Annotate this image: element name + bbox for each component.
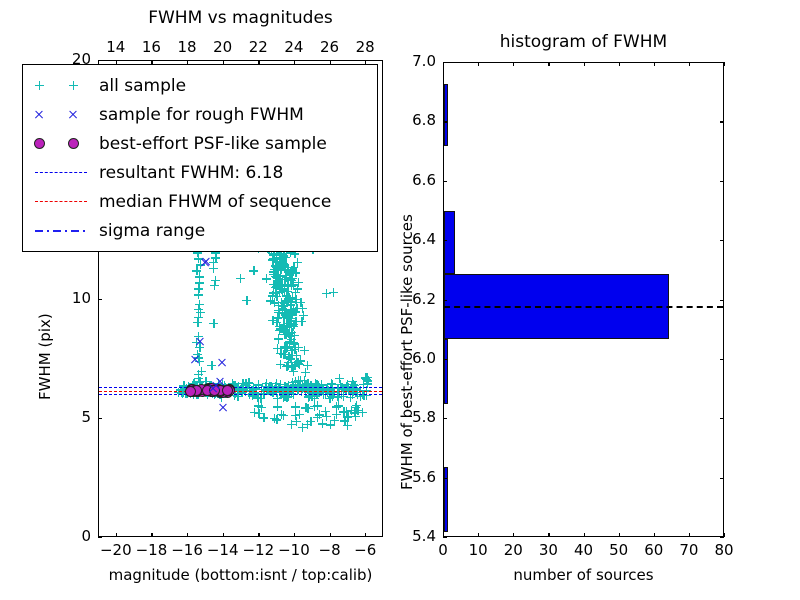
legend-item-rough-sample: sample for rough FWHM: [23, 100, 377, 129]
legend-key-resultant-fwhm: [23, 158, 99, 187]
right-x-tickmark-mirror: [689, 62, 690, 66]
scatter-point-all-sample: [274, 271, 283, 280]
rough-sample-point: [190, 354, 200, 364]
scatter-point-all-sample: [280, 342, 289, 351]
scatter-point-all-sample: [195, 272, 204, 281]
scatter-point-all-sample: [294, 359, 303, 368]
scatter-point-all-sample: [273, 278, 282, 287]
scatter-point-all-sample: [351, 412, 360, 421]
psf-sample-point: [185, 386, 196, 397]
scatter-point-all-sample: [250, 388, 259, 397]
rough-sample-point: [195, 336, 205, 346]
scatter-point-all-sample: [193, 318, 202, 327]
scatter-point-all-sample: [287, 310, 296, 319]
scatter-point-all-sample: [298, 304, 307, 313]
scatter-point-all-sample: [283, 319, 292, 328]
scatter-point-all-sample: [339, 407, 348, 416]
cross-marker-icon: [68, 110, 78, 120]
scatter-point-all-sample: [279, 251, 288, 260]
scatter-point-all-sample: [294, 381, 303, 390]
scatter-point-all-sample: [174, 388, 183, 397]
scatter-point-all-sample: [307, 392, 316, 401]
scatter-point-all-sample: [281, 306, 290, 315]
scatter-point-all-sample: [271, 280, 280, 289]
right-x-tickmark: [689, 533, 690, 537]
scatter-point-all-sample: [274, 278, 283, 287]
scatter-point-all-sample: [282, 343, 291, 352]
cross-marker-icon: [34, 110, 44, 120]
scatter-point-all-sample: [291, 402, 300, 411]
scatter-point-all-sample: [282, 273, 291, 282]
left-y-tickmark: [98, 299, 102, 300]
scatter-point-all-sample: [321, 407, 330, 416]
scatter-point-all-sample: [356, 392, 365, 401]
left-bottom-ticklabel: −20: [100, 541, 132, 559]
scatter-point-all-sample: [281, 266, 290, 275]
left-top-ticklabel: 18: [178, 38, 197, 56]
scatter-point-all-sample: [286, 269, 295, 278]
legend-item-resultant-fwhm: resultant FWHM: 6.18: [23, 158, 377, 187]
scatter-point-all-sample: [284, 392, 293, 401]
scatter-point-all-sample: [210, 281, 219, 290]
left-bottom-tickmark: [116, 533, 117, 537]
right-x-ticklabel: 40: [574, 541, 593, 559]
scatter-point-all-sample: [285, 311, 294, 320]
left-top-ticklabel: 24: [284, 38, 303, 56]
right-x-tickmark-mirror: [619, 62, 620, 66]
scatter-point-all-sample: [276, 265, 285, 274]
scatter-point-all-sample: [277, 298, 286, 307]
scatter-point-all-sample: [303, 420, 312, 429]
scatter-point-all-sample: [279, 324, 288, 333]
scatter-point-all-sample: [271, 265, 280, 274]
legend-item-all-sample: all sample: [23, 71, 377, 100]
scatter-point-all-sample: [292, 351, 301, 360]
scatter-point-all-sample: [269, 267, 278, 276]
scatter-point-all-sample: [304, 404, 313, 413]
scatter-point-all-sample: [276, 257, 285, 266]
right-x-tickmark-mirror: [654, 62, 655, 66]
scatter-point-all-sample: [242, 381, 251, 390]
left-panel-title: FWHM vs magnitudes: [98, 8, 383, 28]
right-x-ticklabel: 70: [679, 541, 698, 559]
scatter-point-all-sample: [306, 381, 315, 390]
scatter-point-all-sample: [281, 310, 290, 319]
right-x-tickmark: [584, 533, 585, 537]
scatter-point-all-sample: [284, 267, 293, 276]
left-y-tickmark: [98, 418, 102, 419]
scatter-point-all-sample: [268, 316, 277, 325]
scatter-point-all-sample: [195, 278, 204, 287]
right-x-ticklabel: 50: [609, 541, 628, 559]
plus-marker-icon: [69, 81, 78, 90]
scatter-point-all-sample: [313, 413, 322, 422]
scatter-point-all-sample: [273, 257, 282, 266]
right-y-tickmark: [443, 181, 447, 182]
scatter-point-all-sample: [248, 391, 257, 400]
scatter-point-all-sample: [329, 288, 338, 297]
scatter-point-all-sample: [286, 274, 295, 283]
scatter-point-all-sample: [196, 308, 205, 317]
scatter-point-all-sample: [310, 394, 319, 403]
scatter-point-all-sample: [335, 374, 344, 383]
right-y-tickmark: [443, 121, 447, 122]
scatter-point-all-sample: [273, 313, 282, 322]
scatter-point-all-sample: [280, 275, 289, 284]
scatter-point-all-sample: [283, 310, 292, 319]
legend-label-psf-sample: best-effort PSF-like sample: [99, 134, 327, 154]
scatter-point-all-sample: [278, 324, 287, 333]
scatter-point-all-sample: [291, 288, 300, 297]
scatter-point-all-sample: [269, 270, 278, 279]
scatter-point-all-sample: [276, 388, 285, 397]
left-bottom-ticklabel: −14: [207, 541, 239, 559]
scatter-point-all-sample: [276, 271, 285, 280]
right-x-tickmark: [724, 533, 725, 537]
scatter-point-all-sample: [271, 261, 280, 270]
scatter-point-all-sample: [273, 278, 282, 287]
scatter-point-all-sample: [288, 378, 297, 387]
legend-label-median-fhwm: median FHWM of sequence: [99, 192, 331, 212]
scatter-point-all-sample: [193, 350, 202, 359]
scatter-point-all-sample: [269, 251, 278, 260]
scatter-point-all-sample: [317, 381, 326, 390]
scatter-point-all-sample: [342, 407, 351, 416]
scatter-point-all-sample: [192, 266, 201, 275]
scatter-point-all-sample: [271, 262, 280, 271]
legend-label-resultant-fwhm: resultant FWHM: 6.18: [99, 163, 283, 183]
scatter-point-all-sample: [262, 274, 271, 283]
scatter-point-all-sample: [254, 401, 263, 410]
right-x-tickmark: [619, 533, 620, 537]
scatter-point-all-sample: [268, 388, 277, 397]
scatter-point-all-sample: [282, 297, 291, 306]
scatter-point-all-sample: [348, 377, 357, 386]
scatter-point-all-sample: [305, 391, 314, 400]
scatter-point-all-sample: [283, 281, 292, 290]
scatter-point-all-sample: [286, 310, 295, 319]
left-bottom-ticklabel: −8: [319, 541, 341, 559]
right-x-tickmark: [654, 533, 655, 537]
scatter-point-all-sample: [287, 363, 296, 372]
scatter-point-all-sample: [242, 296, 251, 305]
left-top-ticklabel: 28: [356, 38, 375, 56]
scatter-point-all-sample: [282, 344, 291, 353]
legend-item-psf-sample: best-effort PSF-like sample: [23, 129, 377, 158]
scatter-point-all-sample: [285, 338, 294, 347]
scatter-point-all-sample: [292, 304, 301, 313]
scatter-point-all-sample: [284, 296, 293, 305]
right-y-tickmark-mirror: [720, 418, 724, 419]
rough-sample-point: [218, 403, 228, 413]
right-y-tickmark-mirror: [720, 240, 724, 241]
right-y-tickmark-mirror: [720, 121, 724, 122]
scatter-point-all-sample: [275, 308, 284, 317]
scatter-point-all-sample: [353, 406, 362, 415]
scatter-point-all-sample: [332, 410, 341, 419]
scatter-point-all-sample: [274, 301, 283, 310]
left-ylabel: FWHM (pix): [36, 313, 54, 400]
scatter-point-all-sample: [284, 352, 293, 361]
scatter-point-all-sample: [195, 343, 204, 352]
scatter-point-all-sample: [339, 392, 348, 401]
scatter-point-all-sample: [278, 258, 287, 267]
scatter-point-all-sample: [211, 253, 220, 262]
scatter-point-all-sample: [233, 392, 242, 401]
scatter-point-all-sample: [283, 328, 292, 337]
scatter-point-all-sample: [281, 350, 290, 359]
legend-label-rough-sample: sample for rough FWHM: [99, 105, 304, 125]
legend-label-sigma-range: sigma range: [99, 221, 205, 241]
scatter-point-all-sample: [282, 312, 291, 321]
legend-item-median-fhwm: median FHWM of sequence: [23, 187, 377, 216]
left-top-ticklabel: 22: [249, 38, 268, 56]
scatter-point-all-sample: [286, 314, 295, 323]
scatter-point-all-sample: [279, 350, 288, 359]
scatter-point-all-sample: [291, 381, 300, 390]
right-x-ticklabel: 20: [504, 541, 523, 559]
scatter-point-all-sample: [273, 271, 282, 280]
scatter-point-all-sample: [276, 253, 285, 262]
histogram-bar: [444, 467, 448, 532]
legend-box: all sample sample for rough FWHM best-ef…: [22, 64, 378, 252]
scatter-point-all-sample: [330, 416, 339, 425]
scatter-point-all-sample: [291, 317, 300, 326]
right-x-tickmark: [513, 533, 514, 537]
scatter-point-all-sample: [276, 255, 285, 264]
histogram-bar: [444, 211, 455, 273]
scatter-point-all-sample: [288, 266, 297, 275]
scatter-point-all-sample: [351, 403, 360, 412]
scatter-point-all-sample: [284, 329, 293, 338]
scatter-point-all-sample: [352, 401, 361, 410]
sigma-range-upper-line: [99, 387, 382, 388]
scatter-point-all-sample: [301, 403, 310, 412]
scatter-point-all-sample: [254, 409, 263, 418]
scatter-point-all-sample: [276, 280, 285, 289]
left-y-tickmark: [98, 537, 102, 538]
scatter-point-all-sample: [268, 291, 277, 300]
right-y-tickmark: [443, 300, 447, 301]
scatter-point-all-sample: [347, 406, 356, 415]
legend-key-psf-sample: [23, 129, 99, 158]
scatter-point-all-sample: [280, 308, 289, 317]
scatter-point-all-sample: [289, 339, 298, 348]
legend-key-median-fhwm: [23, 187, 99, 216]
scatter-point-all-sample: [276, 360, 285, 369]
scatter-point-all-sample: [286, 305, 295, 314]
scatter-point-all-sample: [278, 280, 287, 289]
psf-sample-point: [222, 385, 233, 396]
scatter-point-all-sample: [285, 270, 294, 279]
left-bottom-tickmark: [258, 533, 259, 537]
scatter-point-all-sample: [299, 311, 308, 320]
left-bottom-tickmark: [223, 533, 224, 537]
scatter-point-all-sample: [276, 253, 285, 262]
scatter-point-all-sample: [269, 254, 278, 263]
left-bottom-tickmark: [187, 533, 188, 537]
scatter-point-all-sample: [288, 274, 297, 283]
scatter-point-all-sample: [303, 404, 312, 413]
scatter-point-all-sample: [280, 299, 289, 308]
scatter-point-all-sample: [209, 264, 218, 273]
scatter-point-all-sample: [196, 260, 205, 269]
scatter-point-all-sample: [278, 304, 287, 313]
scatter-point-all-sample: [194, 284, 203, 293]
scatter-point-all-sample: [296, 298, 305, 307]
right-x-tickmark: [548, 533, 549, 537]
scatter-point-all-sample: [303, 361, 312, 370]
scatter-point-all-sample: [296, 376, 305, 385]
scatter-point-all-sample: [283, 265, 292, 274]
scatter-point-all-sample: [275, 261, 284, 270]
scatter-point-all-sample: [343, 421, 352, 430]
scatter-point-all-sample: [292, 417, 301, 426]
left-top-ticklabel: 16: [142, 38, 161, 56]
scatter-point-all-sample: [282, 296, 291, 305]
median-fhwm-line: [99, 391, 382, 392]
scatter-point-all-sample: [269, 288, 278, 297]
left-y-ticklabel: 0: [81, 527, 91, 545]
scatter-point-all-sample: [276, 282, 285, 291]
scatter-point-all-sample: [259, 413, 268, 422]
rough-sample-point: [200, 258, 210, 268]
right-y-tickmark-mirror: [720, 537, 724, 538]
scatter-point-all-sample: [274, 263, 283, 272]
scatter-point-all-sample: [278, 284, 287, 293]
scatter-point-all-sample: [308, 388, 317, 397]
scatter-point-all-sample: [280, 392, 289, 401]
scatter-point-all-sample: [270, 298, 279, 307]
scatter-point-all-sample: [271, 272, 280, 281]
scatter-point-all-sample: [286, 275, 295, 284]
histogram-bar: [444, 339, 448, 404]
scatter-point-all-sample: [288, 293, 297, 302]
scatter-point-all-sample: [291, 295, 300, 304]
scatter-point-all-sample: [270, 414, 279, 423]
scatter-point-all-sample: [287, 319, 296, 328]
left-top-ticklabel: 14: [106, 38, 125, 56]
scatter-point-all-sample: [282, 273, 291, 282]
scatter-point-all-sample: [301, 368, 310, 377]
scatter-point-all-sample: [274, 308, 283, 317]
scatter-point-all-sample: [291, 411, 300, 420]
scatter-point-all-sample: [287, 346, 296, 355]
scatter-point-all-sample: [283, 287, 292, 296]
scatter-point-all-sample: [283, 323, 292, 332]
scatter-point-all-sample: [284, 265, 293, 274]
scatter-point-all-sample: [285, 328, 294, 337]
scatter-point-all-sample: [285, 337, 294, 346]
scatter-point-all-sample: [300, 376, 309, 385]
scatter-point-all-sample: [282, 362, 291, 371]
scatter-point-all-sample: [279, 411, 288, 420]
right-y-tickmark: [443, 478, 447, 479]
histogram-axes: [443, 62, 724, 537]
right-x-tickmark-mirror: [443, 62, 444, 66]
scatter-point-all-sample: [274, 334, 283, 343]
sigma-range-lower-line: [99, 394, 382, 395]
scatter-point-all-sample: [279, 262, 288, 271]
scatter-point-all-sample: [275, 322, 284, 331]
scatter-point-all-sample: [279, 302, 288, 311]
scatter-point-all-sample: [293, 258, 302, 267]
right-x-ticklabel: 30: [539, 541, 558, 559]
right-x-tickmark-mirror: [724, 62, 725, 66]
scatter-point-all-sample: [362, 375, 371, 384]
scatter-point-all-sample: [281, 391, 290, 400]
scatter-point-all-sample: [358, 408, 367, 417]
right-xlabel: number of sources: [443, 566, 724, 584]
scatter-point-all-sample: [287, 335, 296, 344]
scatter-point-all-sample: [272, 273, 281, 282]
legend-key-rough-sample: [23, 100, 99, 129]
right-x-ticklabel: 10: [469, 541, 488, 559]
right-ylabel: FWHM of best-effort PSF-like sources: [398, 214, 416, 490]
left-top-ticklabel: 26: [320, 38, 339, 56]
scatter-point-all-sample: [236, 274, 245, 283]
scatter-point-all-sample: [314, 381, 323, 390]
left-bottom-tickmark: [151, 533, 152, 537]
scatter-point-all-sample: [285, 321, 294, 330]
right-x-tickmark-mirror: [548, 62, 549, 66]
scatter-point-all-sample: [294, 278, 303, 287]
scatter-point-all-sample: [343, 412, 352, 421]
scatter-point-all-sample: [288, 309, 297, 318]
scatter-point-all-sample: [284, 388, 293, 397]
scatter-point-all-sample: [278, 287, 287, 296]
scatter-point-all-sample: [312, 380, 321, 389]
scatter-point-all-sample: [275, 326, 284, 335]
right-x-ticklabel: 60: [644, 541, 663, 559]
scatter-point-all-sample: [294, 343, 303, 352]
scatter-point-all-sample: [274, 335, 283, 344]
scatter-point-all-sample: [291, 360, 300, 369]
scatter-point-all-sample: [273, 265, 282, 274]
left-xlabel: magnitude (bottom:isnt / top:calib): [98, 566, 383, 584]
scatter-point-all-sample: [194, 305, 203, 314]
scatter-point-all-sample: [195, 357, 204, 366]
scatter-point-all-sample: [290, 331, 299, 340]
scatter-point-all-sample: [281, 325, 290, 334]
scatter-point-all-sample: [350, 408, 359, 417]
scatter-point-all-sample: [277, 410, 286, 419]
scatter-point-all-sample: [273, 402, 282, 411]
scatter-point-all-sample: [285, 332, 294, 341]
scatter-point-all-sample: [290, 340, 299, 349]
scatter-point-all-sample: [271, 283, 280, 292]
scatter-point-all-sample: [278, 261, 287, 270]
scatter-point-all-sample: [298, 423, 307, 432]
right-y-tickmark: [443, 240, 447, 241]
scatter-point-all-sample: [269, 256, 278, 265]
scatter-point-all-sample: [280, 260, 289, 269]
right-x-tickmark-mirror: [513, 62, 514, 66]
scatter-point-all-sample: [285, 293, 294, 302]
scatter-point-all-sample: [286, 300, 295, 309]
scatter-point-all-sample: [334, 401, 343, 410]
scatter-point-all-sample: [211, 276, 220, 285]
legend-label-all-sample: all sample: [99, 76, 186, 96]
scatter-point-all-sample: [274, 274, 283, 283]
scatter-point-all-sample: [207, 361, 216, 370]
scatter-point-all-sample: [277, 301, 286, 310]
left-bottom-ticklabel: −12: [242, 541, 274, 559]
resultant-fwhm-line: [444, 306, 723, 308]
scatter-point-all-sample: [313, 401, 322, 410]
scatter-point-all-sample: [295, 410, 304, 419]
scatter-point-all-sample: [284, 381, 293, 390]
